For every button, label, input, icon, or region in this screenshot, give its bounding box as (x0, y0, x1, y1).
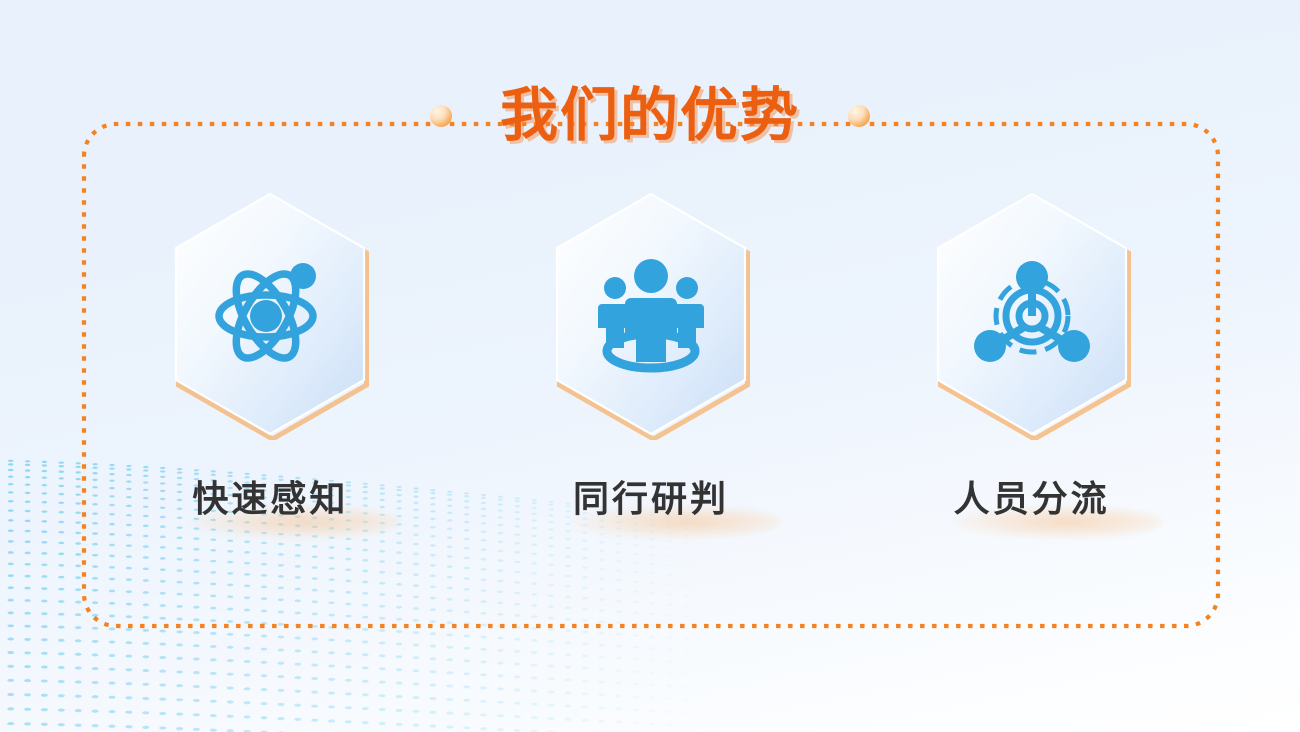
title-row: 我们的优势 (0, 78, 1300, 154)
title-dot-right (848, 105, 870, 127)
hexagon-tile-1 (162, 188, 378, 440)
card-label-wrap-3: 人员分流 (954, 472, 1110, 526)
card-label-3: 人员分流 (954, 481, 1110, 517)
card-label-wrap-2: 同行研判 (573, 472, 729, 526)
card-label-1: 快速感知 (192, 481, 348, 517)
hexagon-tile-3 (924, 188, 1140, 440)
title-dot-left (430, 105, 452, 127)
page-title: 我们的优势 (452, 87, 848, 145)
advantage-card-1[interactable]: 快速感知 (120, 188, 420, 526)
slide-canvas: 我们的优势 (0, 0, 1300, 732)
atom-orbit-icon (206, 250, 334, 378)
network-distribution-icon (968, 250, 1096, 378)
advantage-card-2[interactable]: 同行研判 (501, 188, 801, 526)
people-group-icon (587, 250, 715, 378)
card-label-2: 同行研判 (573, 481, 729, 517)
hexagon-tile-2 (543, 188, 759, 440)
advantage-card-3[interactable]: 人员分流 (882, 188, 1182, 526)
advantage-cards: 快速感知 (80, 188, 1222, 548)
card-label-wrap-1: 快速感知 (192, 472, 348, 526)
